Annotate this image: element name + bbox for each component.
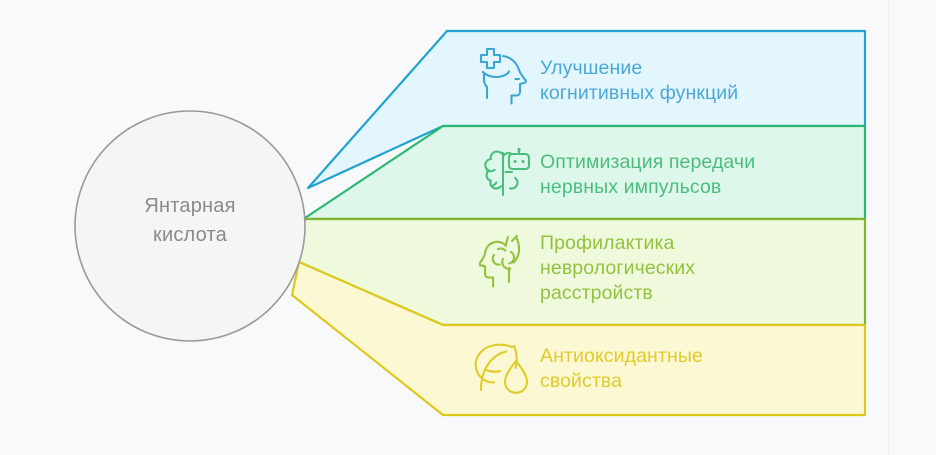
right-edge-rule xyxy=(888,0,889,455)
band-label-neuro-prevention: Профилактика неврологических расстройств xyxy=(540,231,695,306)
diagram-canvas: Янтарная кислота Улучшение когнитивных ф… xyxy=(0,0,936,455)
band-label-cognitive: Улучшение когнитивных функций xyxy=(540,56,738,106)
band-label-antioxidant: Антиоксидантные свойства xyxy=(540,344,703,394)
hub-label: Янтарная кислота xyxy=(90,192,290,250)
band-label-nerve-impulse: Оптимизация передачи нервных импульсов xyxy=(540,150,755,200)
